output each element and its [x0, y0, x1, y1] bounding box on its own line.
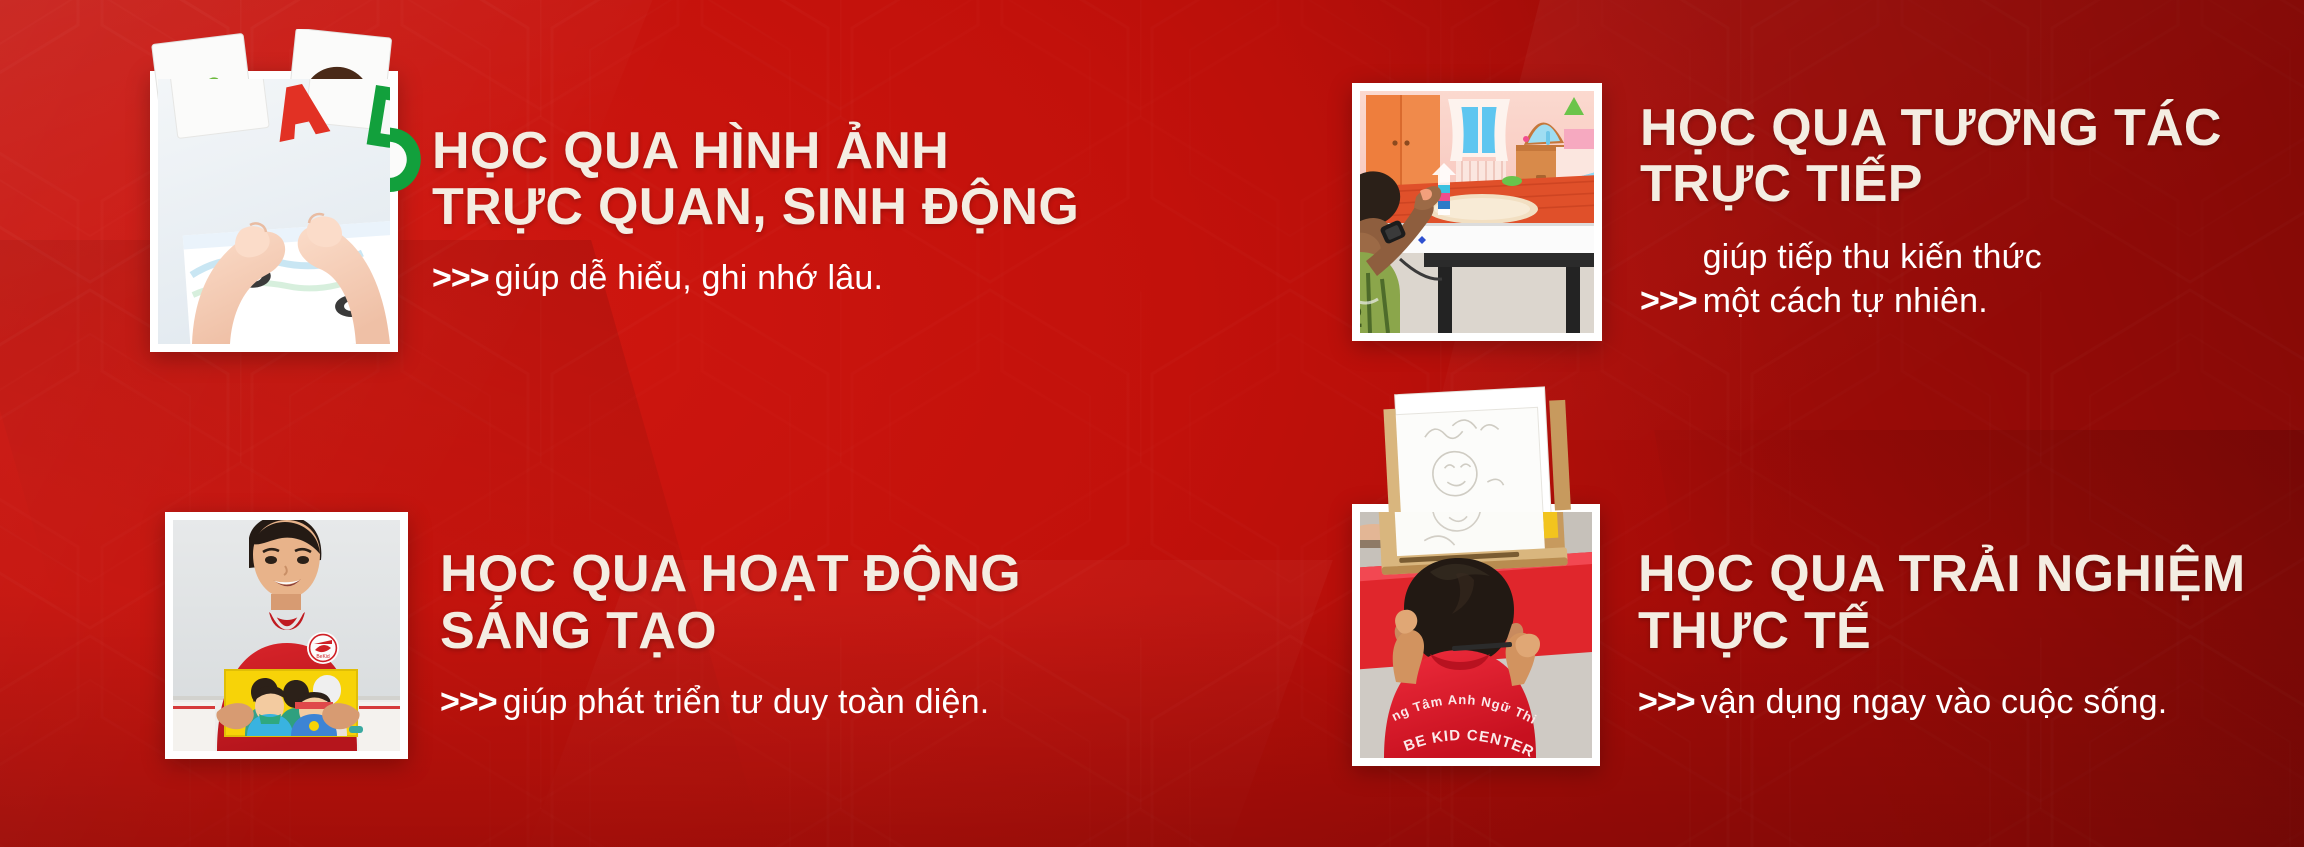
promo-banner: HỌC QUA HÌNH ẢNH TRỰC QUAN, SINH ĐỘNG >>…	[0, 0, 2304, 847]
feature-photo-frame-4: ng Tâm Anh Ngữ Thiế BE KID CENTER	[1352, 504, 1600, 766]
feature-subtitle-text-1: giúp dễ hiểu, ghi nhớ lâu.	[495, 259, 884, 297]
feature-subtitle-4: >>>vận dụng ngay vào cuộc sống.	[1638, 680, 2246, 724]
feature-card-visual-learning: HỌC QUA HÌNH ẢNH TRỰC QUAN, SINH ĐỘNG >>…	[0, 0, 1152, 423]
feature-text-1: HỌC QUA HÌNH ẢNH TRỰC QUAN, SINH ĐỘNG >>…	[432, 123, 1079, 301]
photo-interactive-screen: 2	[1360, 91, 1594, 333]
feature-heading-2: HỌC QUA TƯƠNG TÁC TRỰC TIẾP	[1640, 100, 2222, 213]
feature-photo-frame-2: 2	[1352, 83, 1602, 341]
arrow-marker-1: >>>	[432, 259, 489, 297]
arrow-marker-2: >>>	[1640, 282, 1697, 320]
feature-subtitle-text-3: giúp phát triển tư duy toàn diện.	[503, 683, 990, 721]
arrow-marker-4: >>>	[1638, 683, 1695, 721]
feature-photo-frame-3: BeKid	[165, 512, 408, 759]
feature-subtitle-2: >>>giúp tiếp thu kiến thức một cách tự n…	[1640, 235, 2222, 323]
feature-card-interactive-learning: 2	[1152, 0, 2304, 423]
svg-text:BeKid: BeKid	[316, 654, 330, 660]
feature-subtitle-1: >>>giúp dễ hiểu, ghi nhớ lâu.	[432, 256, 1079, 300]
feature-subtitle-text-2: giúp tiếp thu kiến thức một cách tự nhiê…	[1703, 235, 2042, 323]
photo-flashcards	[158, 79, 390, 344]
feature-heading-4: HỌC QUA TRẢI NGHIỆM THỰC TẾ	[1638, 546, 2246, 659]
feature-text-4: HỌC QUA TRẢI NGHIỆM THỰC TẾ >>>vận dụng …	[1638, 546, 2246, 724]
feature-card-real-experience: ng Tâm Anh Ngữ Thiế BE KID CENTER	[1152, 423, 2304, 847]
feature-heading-1: HỌC QUA HÌNH ẢNH TRỰC QUAN, SINH ĐỘNG	[432, 123, 1079, 236]
svg-text:2: 2	[1360, 301, 1363, 333]
feature-card-creative-activity: BeKid	[0, 423, 1152, 847]
photo-craft-boy: BeKid	[173, 520, 400, 751]
feature-heading-3: HỌC QUA HOẠT ĐỘNG SÁNG TẠO	[440, 546, 1021, 659]
feature-text-3: HỌC QUA HOẠT ĐỘNG SÁNG TẠO >>>giúp phát …	[440, 546, 1021, 724]
feature-text-2: HỌC QUA TƯƠNG TÁC TRỰC TIẾP >>>giúp tiếp…	[1640, 100, 2222, 324]
feature-subtitle-3: >>>giúp phát triển tư duy toàn diện.	[440, 680, 1021, 724]
feature-photo-frame-1	[150, 71, 398, 352]
photo-drawing-boy: ng Tâm Anh Ngữ Thiế BE KID CENTER	[1360, 512, 1592, 758]
feature-grid: HỌC QUA HÌNH ẢNH TRỰC QUAN, SINH ĐỘNG >>…	[0, 0, 2304, 847]
feature-subtitle-text-4: vận dụng ngay vào cuộc sống.	[1701, 683, 2168, 721]
arrow-marker-3: >>>	[440, 683, 497, 721]
